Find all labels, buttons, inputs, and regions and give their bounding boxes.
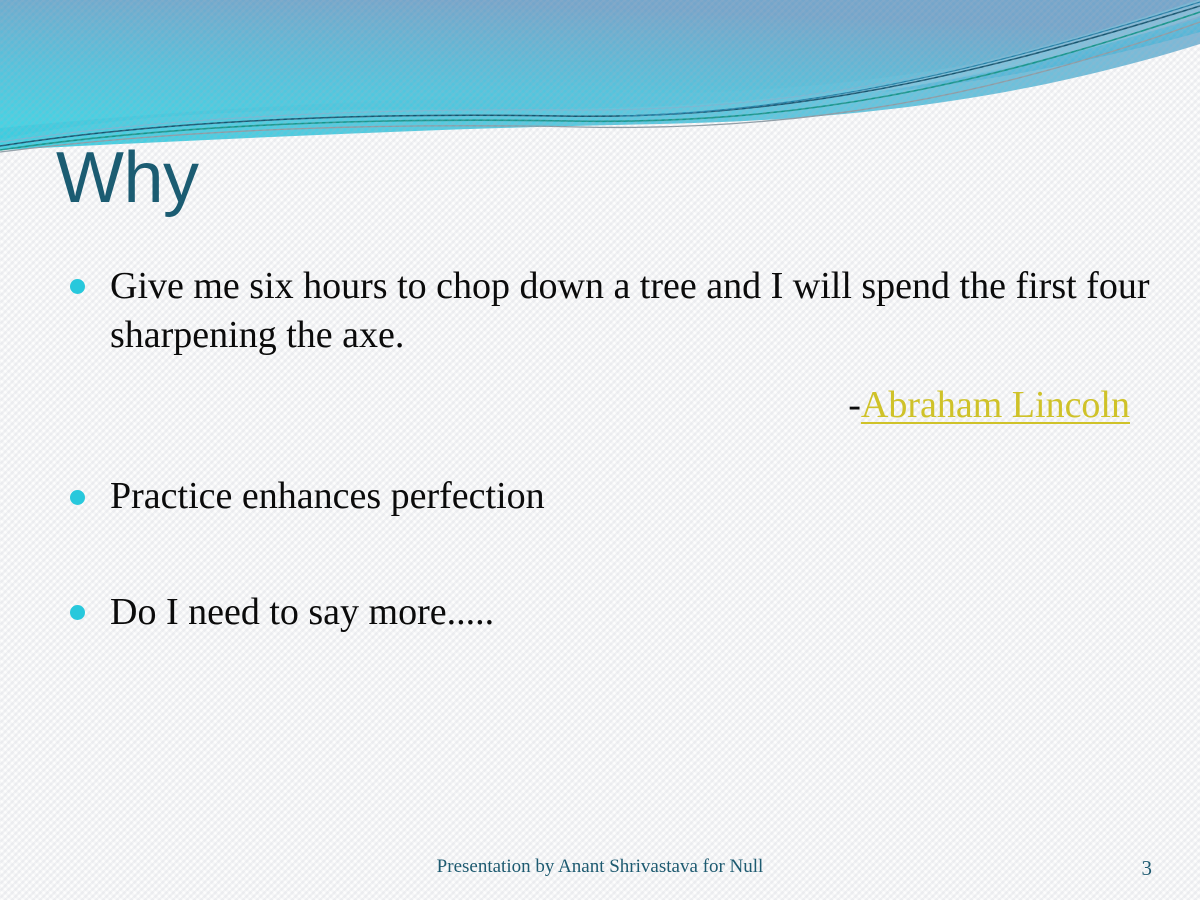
page-number: 3 (1142, 856, 1153, 881)
spacer-1 (62, 430, 1152, 472)
bullet-item-3: Do I need to say more..... (62, 588, 1152, 637)
footer-note: Presentation by Anant Shrivastava for Nu… (0, 856, 1200, 878)
bullet-dot-icon (70, 490, 85, 505)
bullet-item-2-text: Practice enhances perfection (110, 472, 1152, 521)
bullet-item-3-text: Do I need to say more..... (110, 588, 1152, 637)
bullet-item-2: Practice enhances perfection (62, 472, 1152, 521)
slide-content: Why Give me six hours to chop down a tre… (0, 0, 1200, 900)
spacer-2 (62, 522, 1152, 588)
presentation-slide: Why Give me six hours to chop down a tre… (0, 0, 1200, 900)
bullet-dot-icon (70, 279, 85, 294)
bullet-dot-icon (70, 605, 85, 620)
abraham-lincoln-link[interactable]: Abraham Lincoln (861, 384, 1130, 426)
bullet-item-1-text: Give me six hours to chop down a tree an… (110, 262, 1152, 361)
bullet-item-1: Give me six hours to chop down a tree an… (62, 262, 1152, 361)
slide-body: Give me six hours to chop down a tree an… (62, 262, 1152, 637)
attribution-dash: - (848, 384, 861, 426)
attribution-line: -Abraham Lincoln (62, 381, 1152, 430)
slide-title: Why (56, 142, 199, 214)
